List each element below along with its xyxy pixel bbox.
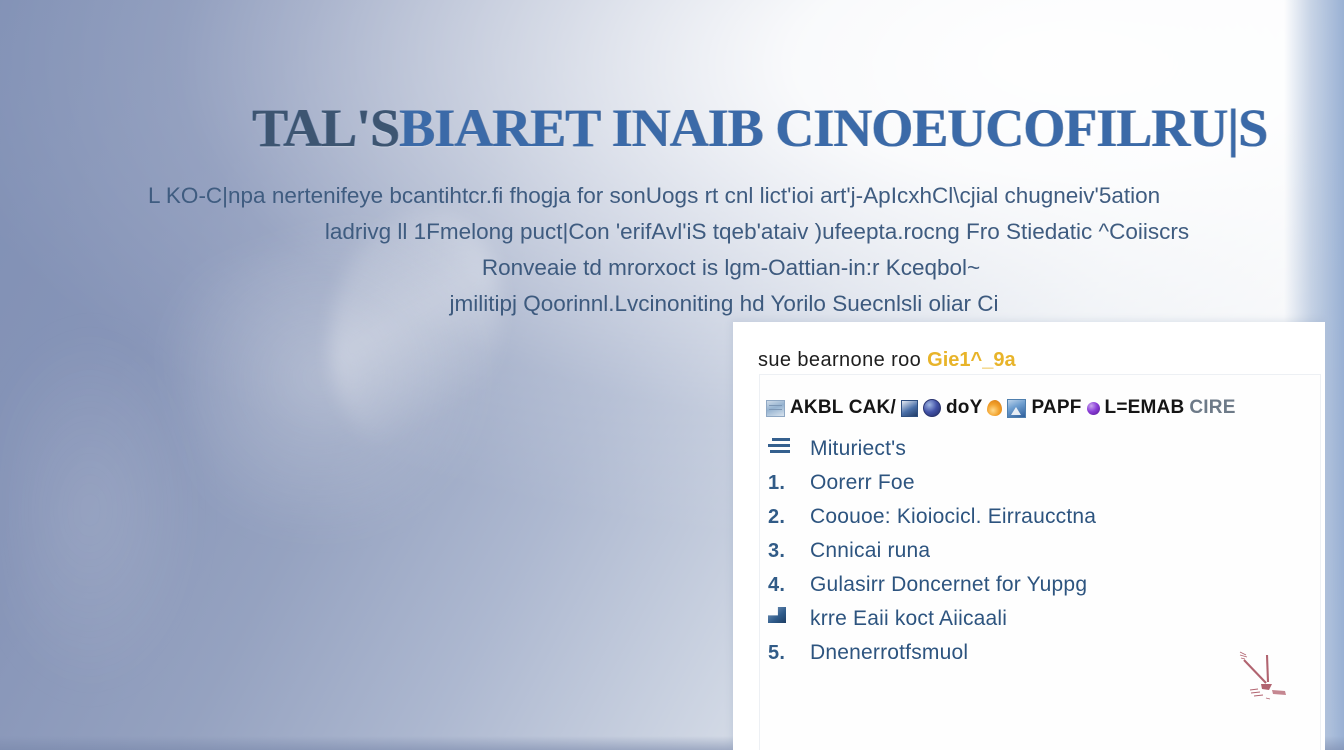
list-item[interactable]: Mituriect's [768,437,1312,471]
card-header-text-1: AKBL CAK/ [790,397,896,419]
flame-icon [987,400,1002,416]
list-marker-page-icon [768,606,794,629]
list-item-label: Oorerr Foe [810,471,915,495]
panel-caption-lead: sue bearnone roo [758,349,921,371]
background-wisp [0,300,300,720]
list-item[interactable]: krre Eaii koct Aiicaali [768,607,1312,641]
page-title-segment-2: BIARET [399,98,599,158]
list-item[interactable]: 3. Cnnicai runa [768,539,1312,573]
panel-caption: sue bearnone roo Gie1^_9a [758,349,1016,372]
document-card: AKBL CAK/ doY PAPF L=EMAB CIRE Mituriect… [760,375,1320,750]
list-item-label: Dnenerrotfsmuol [810,641,968,665]
app-icon [1007,399,1026,418]
document-icon [766,400,785,417]
list-item-label: Coouoe: Kioiocicl. Eirraucctna [810,505,1096,529]
card-header-text-2: doY [946,397,983,419]
list-item[interactable]: 5. Dnenerrotfsmuol [768,641,1312,675]
page-title-segment-1: TAL'S [252,98,399,158]
list-item-label: krre Eaii koct Aiicaali [810,607,1007,631]
list-item[interactable]: 1. Oorerr Foe [768,471,1312,505]
body-paragraph: L KO-C|npa nertenifeye bcantihtcr.fi fho… [140,178,1344,322]
paragraph-line: jmilitipj Qoorinnl.Lvcinoniting hd Yoril… [140,286,1344,322]
slide-canvas: TAL'SBIARET INAIB CINOEUCOFILRU|S L KO-C… [0,0,1344,750]
list-item[interactable]: 4. Gulasirr Doncernet for Yuppg [768,573,1312,607]
paragraph-line: L KO-C|npa nertenifeye bcantihtcr.fi fho… [140,178,1344,214]
page-title: TAL'SBIARET INAIB CINOEUCOFILRU|S [252,100,1344,157]
card-list: Mituriect's 1. Oorerr Foe 2. Coouoe: Kio… [768,437,1312,675]
list-item[interactable]: 2. Coouoe: Kioiocicl. Eirraucctna [768,505,1312,539]
card-header-row: AKBL CAK/ doY PAPF L=EMAB CIRE [766,393,1316,423]
list-item-label: Mituriect's [810,437,906,461]
list-marker: 1. [768,472,794,495]
list-marker: 2. [768,506,794,529]
card-header-text-4: L=EMAB [1105,397,1185,419]
list-marker: 3. [768,540,794,563]
list-marker-lines-icon [768,436,794,459]
card-header-text-3: PAPF [1031,397,1081,419]
list-item-label: Gulasirr Doncernet for Yuppg [810,573,1087,597]
card-header-text-5: CIRE [1189,397,1235,419]
square-icon [901,400,918,417]
page-title-segment-4: CINOEUCOFILRU|S [775,98,1267,158]
paragraph-line: ladrivg ll 1Fmelong puct|Con 'erifAvl'iS… [140,214,1344,250]
red-ink-scribble-icon [1236,646,1298,704]
list-marker: 5. [768,642,794,665]
paragraph-line: Ronveaie td mrorxoct is lgm-Oattian-in:r… [140,250,1344,286]
purple-dot-icon [1087,402,1100,415]
page-title-segment-3: INAIB [612,98,763,158]
panel-caption-highlight: Gie1^_9a [927,349,1015,371]
globe-icon [923,399,941,417]
list-marker: 4. [768,574,794,597]
content-panel: sue bearnone roo Gie1^_9a AKBL CAK/ doY … [733,322,1325,750]
list-item-label: Cnnicai runa [810,539,930,563]
